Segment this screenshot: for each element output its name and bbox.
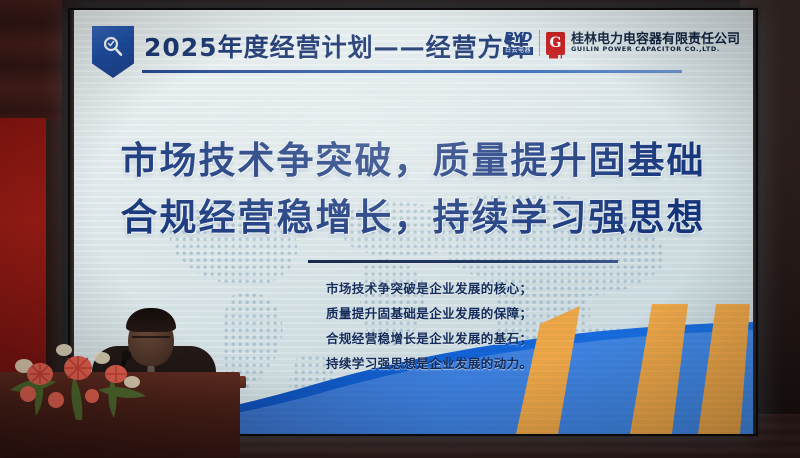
- presenter-hair: [126, 308, 176, 332]
- title-underline: [142, 70, 682, 73]
- guilin-logo-mark: G: [546, 32, 565, 55]
- bullet-separator-line: [308, 260, 618, 263]
- secondary-logo-subtitle: 白云电器: [503, 47, 533, 55]
- bullet-item: 持续学习强思想是企业发展的动力。: [326, 351, 532, 376]
- page-title: 2025年度经营计划——经营方针: [144, 28, 530, 64]
- slogan-line-2: 合规经营稳增长，持续学习强思想: [72, 189, 754, 246]
- magnifier-icon: [92, 26, 134, 78]
- bullet-list: 市场技术争突破是企业发展的核心； 质量提升固基础是企业发展的保障； 合规经营稳增…: [326, 276, 532, 376]
- left-wall-upper-panels: [0, 0, 62, 120]
- bullet-item: 质量提升固基础是企业发展的保障；: [326, 301, 532, 326]
- company-logo-lockup: BYD 白云电器 G 桂林电力电容器有限责任公司 GUILIN POWER CA…: [503, 26, 740, 60]
- screen-bezel-right: [753, 8, 758, 436]
- slogan-line-1: 市场技术争突破，质量提升固基础: [72, 132, 754, 189]
- secondary-logo-mark: BYD: [504, 32, 532, 45]
- logo-divider: [539, 30, 540, 56]
- flower-arrangement: [6, 330, 156, 422]
- slide-header: 2025年度经营计划——经营方针 BYD 白云电器 G 桂林电力电容器有限责任公…: [72, 10, 754, 84]
- bullet-item: 市场技术争突破是企业发展的核心；: [326, 276, 532, 301]
- secondary-logo: BYD 白云电器: [503, 32, 533, 55]
- magnifier-glyph: [101, 35, 125, 59]
- company-name-cn: 桂林电力电容器有限责任公司: [571, 33, 740, 47]
- company-name-en: GUILIN POWER CAPACITOR CO.,LTD.: [571, 46, 740, 53]
- slogan-block: 市场技术争突破，质量提升固基础 合规经营稳增长，持续学习强思想: [72, 132, 754, 247]
- presenter-at-podium: [0, 258, 300, 458]
- company-name-block: 桂林电力电容器有限责任公司 GUILIN POWER CAPACITOR CO.…: [571, 33, 740, 53]
- bullet-item: 合规经营稳增长是企业发展的基石；: [326, 326, 532, 351]
